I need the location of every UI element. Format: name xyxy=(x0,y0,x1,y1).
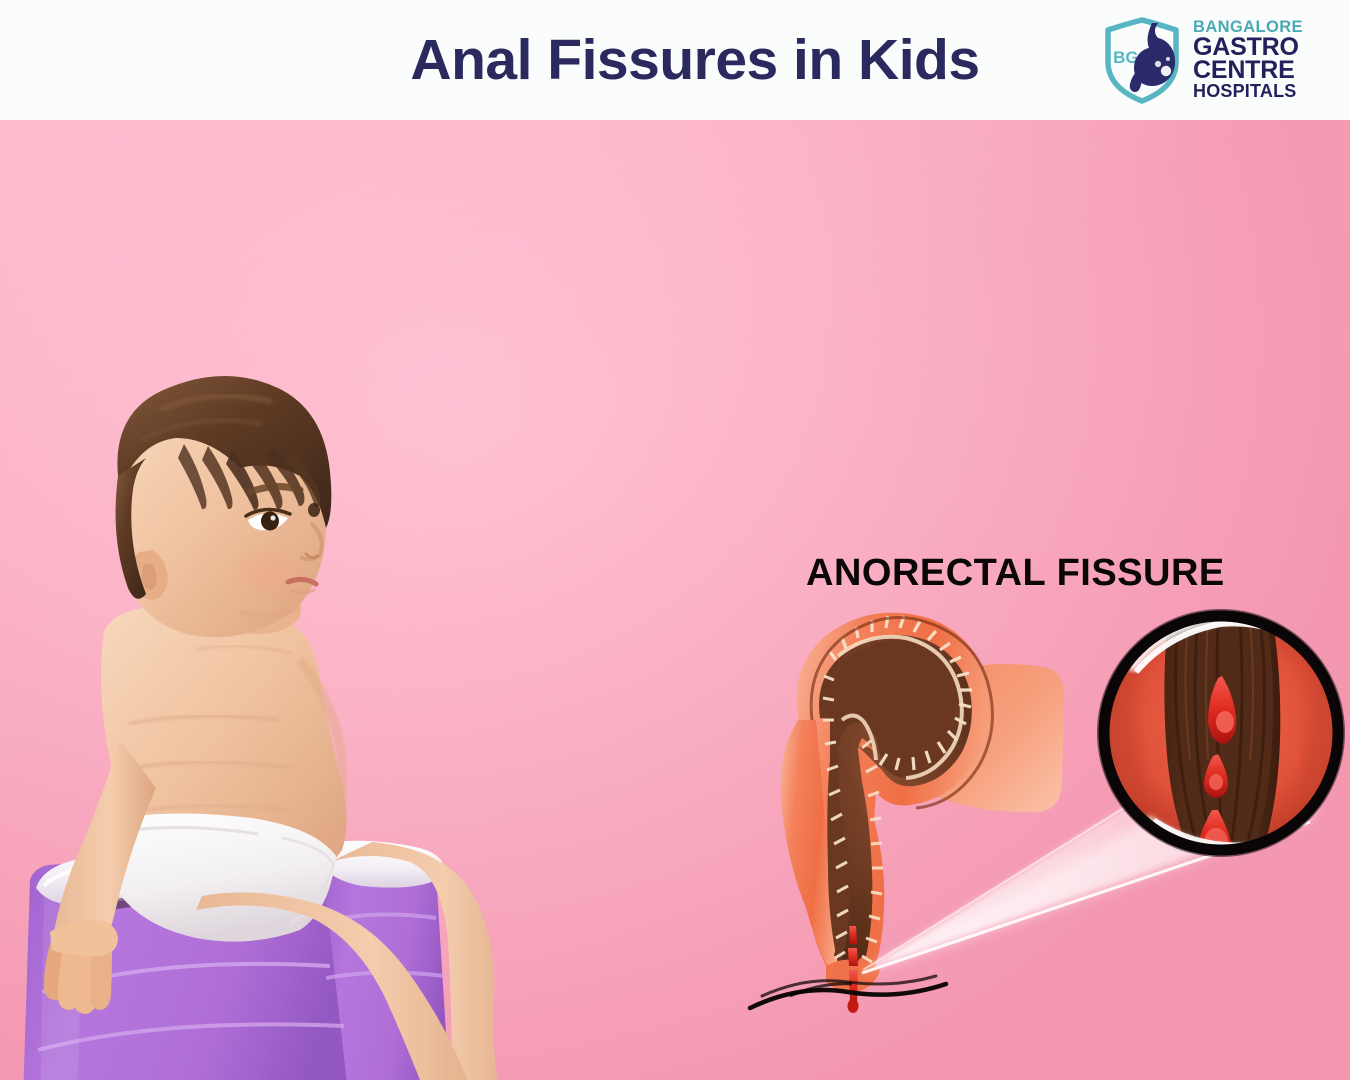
page-title: Anal Fissures in Kids xyxy=(410,32,979,89)
logo-wordmark: BANGALORE GASTRO CENTRE HOSPITALS xyxy=(1193,20,1303,99)
logo-line-hospitals: HOSPITALS xyxy=(1193,83,1303,100)
illustration-label: ANORECTAL FISSURE xyxy=(806,552,1225,595)
poster-canvas: ANORECTAL FISSURE xyxy=(0,120,1350,1080)
magnifier-inset xyxy=(1099,611,1345,857)
brand-logo: BGC BANGALORE GASTRO CENTRE HOSPITALS xyxy=(1096,10,1308,110)
shield-icon: BGC xyxy=(1096,14,1188,106)
logo-line-centre: CENTRE xyxy=(1193,59,1303,83)
logo-mark: BGC xyxy=(1096,14,1188,106)
poster-root: Anal Fissures in Kids BGC xyxy=(0,0,1350,1080)
anorectal-diagram xyxy=(0,120,1350,1080)
header-bar: Anal Fissures in Kids BGC xyxy=(0,0,1350,120)
